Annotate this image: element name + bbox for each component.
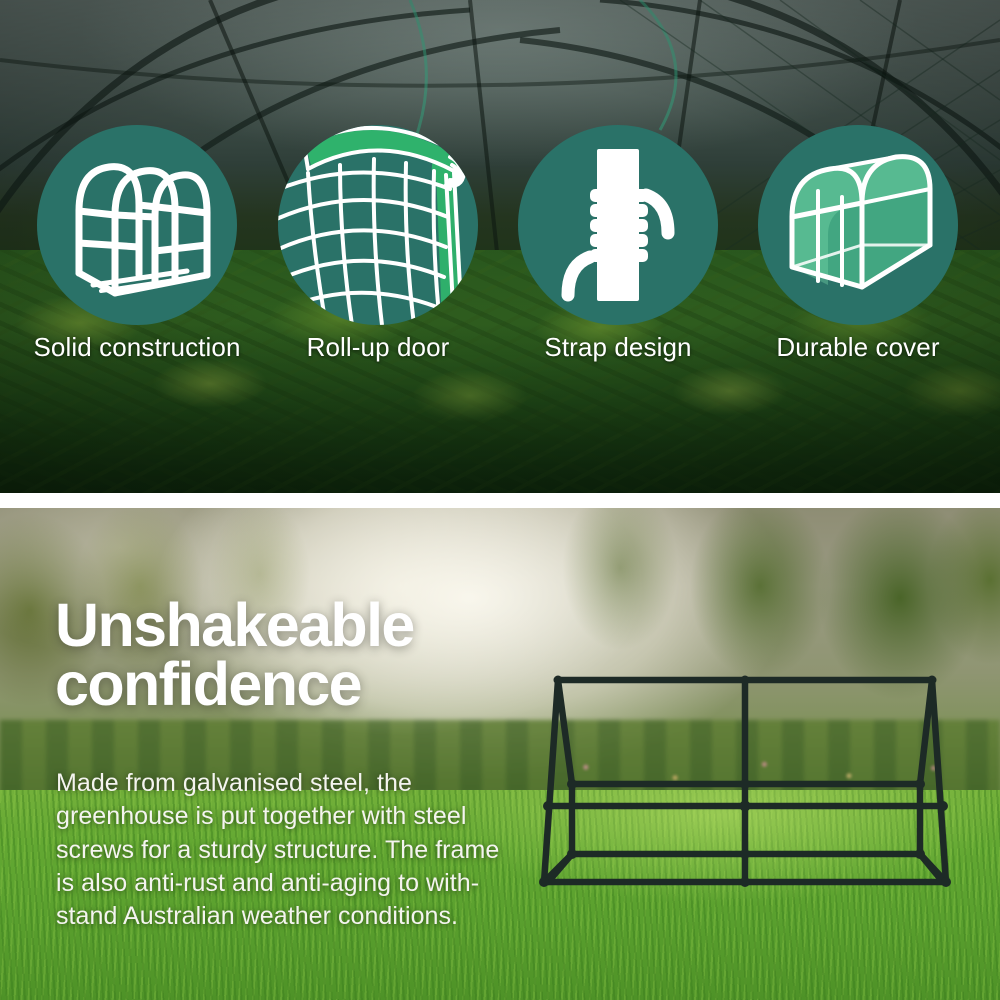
features-panel: Solid construction	[0, 0, 1000, 493]
product-greenhouse-frame	[520, 650, 970, 910]
strap-on-pole-icon	[518, 125, 718, 325]
page-title: Unshakeable confidence	[55, 596, 495, 713]
feature-item-strap-design[interactable]: Strap design	[518, 125, 718, 325]
feature-list: Solid construction	[0, 0, 1000, 493]
feature-item-durable-cover[interactable]: Durable cover	[758, 125, 958, 325]
feature-label-1: Solid construction	[7, 333, 267, 362]
feature-circle-3	[518, 125, 718, 325]
feature-label-4: Durable cover	[728, 333, 988, 362]
body-line-4: is also anti-rust and anti-aging to with…	[56, 867, 468, 900]
roll-up-door-icon	[278, 125, 478, 325]
body-line-1: Made from galvanised steel, the	[56, 767, 468, 800]
headline-line-2: confidence	[55, 655, 495, 714]
feature-circle-1	[37, 125, 237, 325]
body-line-3: screws for a sturdy structure. The frame	[56, 834, 468, 867]
product-marketing-image: Solid construction	[0, 0, 1000, 1000]
body-line-5: stand Australian weather conditions.	[56, 900, 468, 933]
feature-label-2: Roll-up door	[248, 333, 508, 362]
feature-item-roll-up-door[interactable]: Roll-up door	[278, 125, 478, 325]
feature-circle-2	[278, 125, 478, 325]
headline-line-1: Unshakeable	[55, 591, 414, 659]
feature-item-solid-construction[interactable]: Solid construction	[37, 125, 237, 325]
feature-label-3: Strap design	[488, 333, 748, 362]
feature-circle-4	[758, 125, 958, 325]
body-description: Made from galvanised steel, the greenhou…	[56, 767, 468, 933]
panel-divider	[0, 493, 1000, 508]
body-line-2: greenhouse is put together with steel	[56, 800, 468, 833]
greenhouse-frame-icon	[37, 125, 237, 325]
covered-greenhouse-icon	[758, 125, 958, 325]
